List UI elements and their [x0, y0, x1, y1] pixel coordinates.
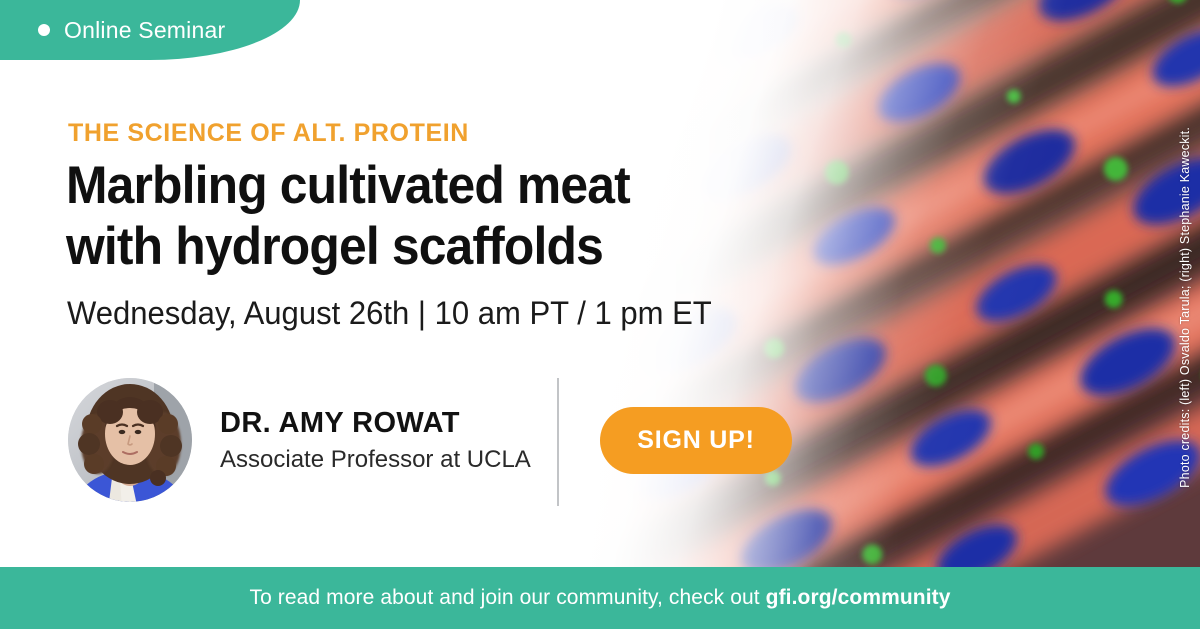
page-title: Marbling cultivated meat with hydrogel s…: [66, 155, 799, 277]
sign-up-button[interactable]: SIGN UP!: [600, 407, 792, 474]
photo-credit: Photo credits: (left) Osvaldo Tarula; (r…: [1174, 88, 1196, 488]
poster-content: THE SCIENCE OF ALT. PROTEIN Marbling cul…: [0, 0, 900, 571]
footer-lead-text: To read more about and join our communit…: [249, 586, 765, 609]
speaker-name: DR. AMY ROWAT: [220, 405, 531, 441]
speaker-text: DR. AMY ROWAT Associate Professor at UCL…: [220, 405, 531, 476]
seminar-promo-poster: Online Seminar THE SCIENCE OF ALT. PROTE…: [0, 0, 1200, 629]
community-link[interactable]: gfi.org/community: [766, 586, 951, 609]
headline-line-2: with hydrogel scaffolds: [66, 216, 799, 277]
speaker-title: Associate Professor at UCLA: [220, 444, 531, 476]
footer-text: To read more about and join our communit…: [249, 586, 950, 610]
event-datetime: Wednesday, August 26th | 10 am PT / 1 pm…: [67, 295, 712, 332]
footer-bar: To read more about and join our communit…: [0, 567, 1200, 629]
photo-credit-text: Photo credits: (left) Osvaldo Tarula; (r…: [1178, 127, 1192, 488]
avatar: [68, 378, 192, 502]
vertical-divider: [557, 378, 559, 506]
headline-line-1: Marbling cultivated meat: [66, 155, 799, 216]
series-eyebrow: THE SCIENCE OF ALT. PROTEIN: [68, 119, 469, 148]
speaker-block: DR. AMY ROWAT Associate Professor at UCL…: [68, 378, 531, 502]
